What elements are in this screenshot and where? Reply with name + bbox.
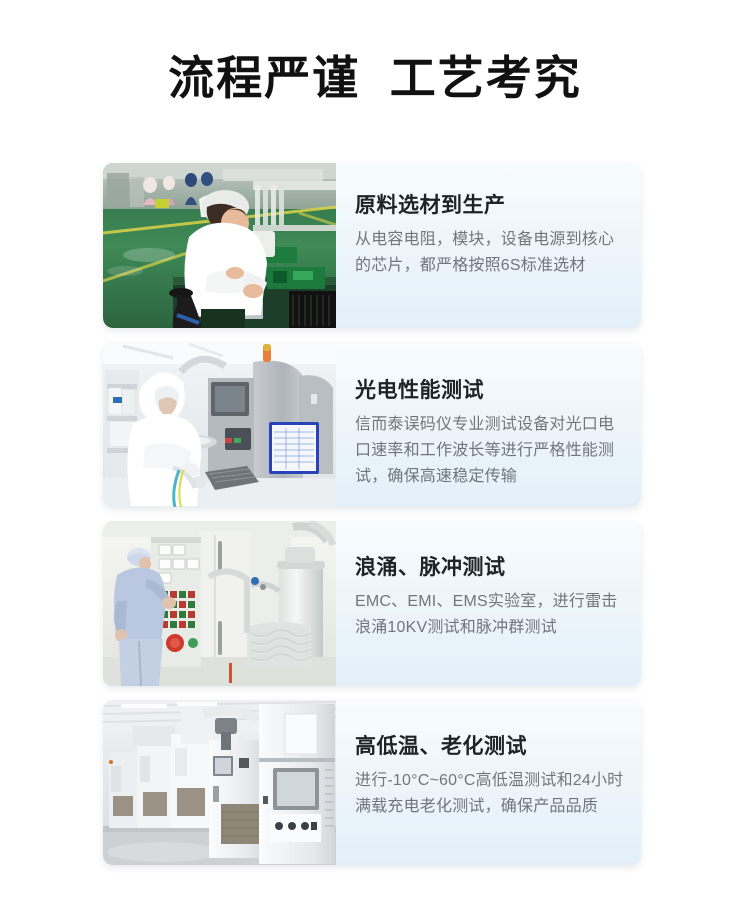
process-card-surge-pulse[interactable]: 浪涌、脉冲测试 EMC、EMI、EMS实验室，进行雷击浪涌10KV测试和脉冲群测… [103, 521, 641, 686]
aging-chamber-room-photo [103, 700, 336, 865]
card-description: 进行-10°C~60°C高低温测试和24小时满载充电老化测试，确保产品品质 [355, 768, 627, 820]
card-heading: 浪涌、脉冲测试 [355, 555, 627, 580]
promo-page: 流程严谨 工艺考究 [0, 0, 750, 900]
process-card-optical-test[interactable]: 光电性能测试 信而泰误码仪专业测试设备对光口电口速率和工作波长等进行严格性能测试… [103, 342, 641, 507]
card-body: 高低温、老化测试 进行-10°C~60°C高低温测试和24小时满载充电老化测试，… [336, 700, 641, 865]
surge-pulse-lab-photo [103, 521, 336, 686]
card-body: 原料选材到生产 从电容电阻，模块，设备电源到核心的芯片，都严格按照6S标准选材 [336, 163, 641, 328]
card-heading: 原料选材到生产 [355, 193, 627, 218]
card-description: EMC、EMI、EMS实验室，进行雷击浪涌10KV测试和脉冲群测试 [355, 589, 627, 641]
card-heading: 光电性能测试 [355, 378, 627, 403]
card-description: 从电容电阻，模块，设备电源到核心的芯片，都严格按照6S标准选材 [355, 227, 627, 279]
cleanroom-optical-test-photo [103, 342, 336, 507]
page-title: 流程严谨 工艺考究 [0, 52, 750, 105]
pcb-assembly-worker-photo [103, 163, 336, 328]
card-body: 浪涌、脉冲测试 EMC、EMI、EMS实验室，进行雷击浪涌10KV测试和脉冲群测… [336, 521, 641, 686]
process-card-raw-material[interactable]: 原料选材到生产 从电容电阻，模块，设备电源到核心的芯片，都严格按照6S标准选材 [103, 163, 641, 328]
card-body: 光电性能测试 信而泰误码仪专业测试设备对光口电口速率和工作波长等进行严格性能测试… [336, 342, 641, 507]
process-card-temperature-aging[interactable]: 高低温、老化测试 进行-10°C~60°C高低温测试和24小时满载充电老化测试，… [103, 700, 641, 865]
card-heading: 高低温、老化测试 [355, 734, 627, 759]
card-description: 信而泰误码仪专业测试设备对光口电口速率和工作波长等进行严格性能测试，确保高速稳定… [355, 412, 627, 490]
process-card-list: 原料选材到生产 从电容电阻，模块，设备电源到核心的芯片，都严格按照6S标准选材 [103, 163, 641, 865]
